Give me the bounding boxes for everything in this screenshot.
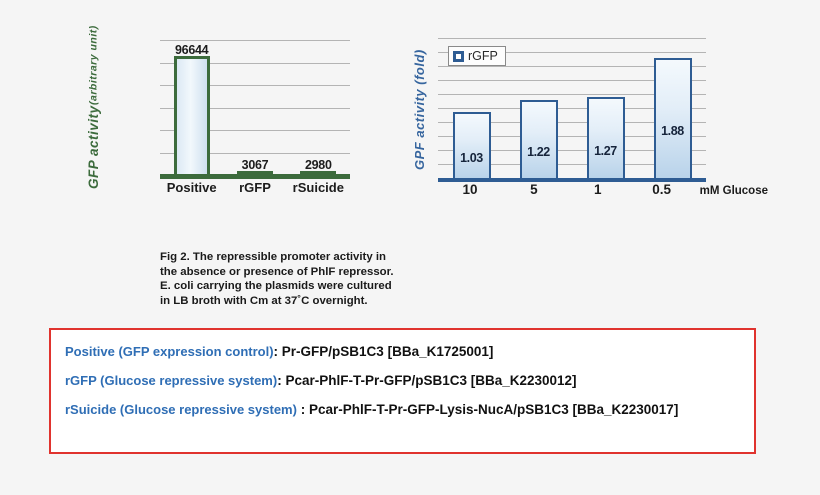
bar-slot: 96644 [160,40,223,175]
figure-3: GPF activity (fold) 1.031.221.271.88 rGF… [412,32,792,187]
fig3-bar-chart: GPF activity (fold) 1.031.221.271.88 rGF… [412,32,762,187]
construct-row: Positive (GFP expression control): Pr-GF… [65,344,754,360]
construct-name: Positive (GFP expression control) [65,344,274,359]
bar-value-label: 1.03 [460,151,483,165]
x-tick-label: rSuicide [287,180,350,195]
fig2-y-axis-label-line1: GFP activity [86,105,101,189]
bar-value-label: 1.27 [594,144,617,158]
construct-name: rGFP (Glucose repressive system) [65,373,277,388]
bar[interactable]: 1.88 [654,58,692,178]
bar[interactable]: 1.03 [453,112,491,178]
bar-value-label: 96644 [175,43,208,57]
bar-value-label: 1.88 [661,124,684,138]
bar-slot: 1.27 [572,38,639,178]
x-tick-label: 1 [566,182,630,197]
fig2-x-axis-ticks: PositiverGFPrSuicide [160,180,350,195]
x-tick-label: Positive [160,180,223,195]
construct-description: Pr-GFP/pSB1C3 [BBa_K1725001] [282,344,494,359]
figure-2: GFP activity (arbitrary unit) 9664430672… [78,32,408,187]
bar[interactable]: 96644 [174,56,210,175]
bar[interactable]: 1.27 [587,97,625,178]
bar-value-label: 3067 [242,158,269,172]
fig3-y-axis-label: GPF activity (fold) [412,40,427,180]
x-tick-label: 0.5 [630,182,694,197]
fig2-caption: Fig 2. The repressible promoter activity… [160,250,480,308]
x-tick-label: rGFP [223,180,286,195]
construct-separator: : [297,402,309,417]
bar[interactable]: 1.22 [520,100,558,178]
construct-description: Pcar-PhlF-T-Pr-GFP-Lysis-NucA/pSB1C3 [BB… [309,402,678,417]
construct-row: rSuicide (Glucose repressive system) : P… [65,402,754,418]
construct-separator: : [274,344,282,359]
fig2-bars: 9664430672980 [160,40,350,175]
fig2-x-axis-line [160,174,350,179]
legend-swatch-icon [453,51,464,62]
construct-row: rGFP (Glucose repressive system): Pcar-P… [65,373,754,389]
bar-slot: 1.88 [639,38,706,178]
figures-row: GFP activity (arbitrary unit) 9664430672… [0,0,820,320]
bar-value-label: 1.22 [527,145,550,159]
fig3-legend-label: rGFP [468,49,498,63]
construct-name: rSuicide (Glucose repressive system) [65,402,297,417]
construct-legend-box: Positive (GFP expression control): Pr-GF… [49,328,756,454]
fig3-chart-legend: rGFP [448,46,506,66]
fig2-y-axis-label-line2: (arbitrary unit) [88,25,100,105]
x-tick-label: 10 [438,182,502,197]
bar-value-label: 2980 [305,158,332,172]
bar-slot: 3067 [223,40,286,175]
construct-description: Pcar-PhlF-T-Pr-GFP/pSB1C3 [BBa_K2230012] [285,373,576,388]
bar-slot: 1.22 [505,38,572,178]
bar-slot: 2980 [287,40,350,175]
fig2-y-axis-label: GFP activity (arbitrary unit) [86,42,101,172]
x-axis-unit-label: mM Glucose [700,185,768,197]
fig3-x-axis-ticks: 10510.5mM Glucose [438,182,768,197]
fig2-bar-chart: GFP activity (arbitrary unit) 9664430672… [86,32,354,187]
fig2-plot-area: 9664430672980 [160,40,350,175]
x-tick-label: 5 [502,182,566,197]
